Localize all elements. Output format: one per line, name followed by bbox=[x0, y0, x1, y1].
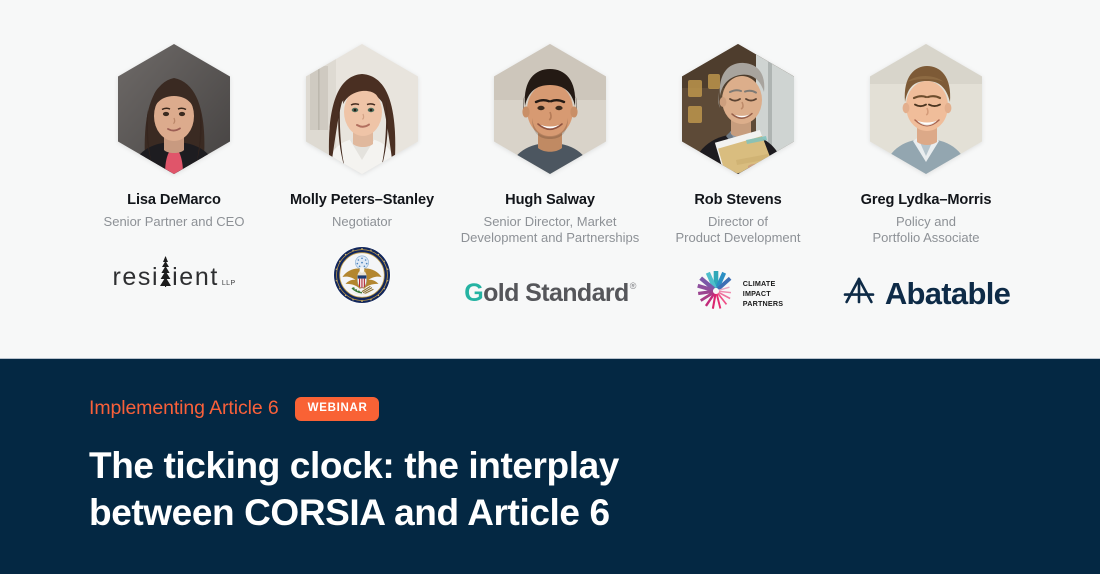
gold-standard-logo-g: G bbox=[464, 279, 483, 308]
banner-content: Implementing Article 6 WEBINAR The ticki… bbox=[0, 359, 1100, 536]
gold-standard-logo: Gold Standard® bbox=[464, 279, 636, 308]
speaker-photo-hugh-salway bbox=[494, 44, 606, 174]
speaker-role-line-2: Portfolio Associate bbox=[873, 230, 980, 247]
climate-impact-partners-wordmark: Climate Impact Partners bbox=[743, 279, 783, 309]
speaker-role: Negotiator bbox=[332, 214, 392, 231]
webinar-banner: Implementing Article 6 WEBINAR The ticki… bbox=[0, 358, 1100, 574]
status-badge: WEBINAR bbox=[295, 397, 380, 421]
webinar-promo-card: Lisa DeMarco Senior Partner and CEO resi… bbox=[0, 0, 1100, 574]
speaker-role: Senior Director, Market Development and … bbox=[461, 214, 640, 247]
speaker-card-molly-peters-stanley: Molly Peters–Stanley Negotiator bbox=[268, 44, 456, 308]
radial-burst-icon bbox=[693, 268, 739, 319]
abatable-wordmark: Abatable bbox=[885, 276, 1010, 312]
cip-line-1: Climate bbox=[743, 279, 783, 289]
speaker-name: Molly Peters–Stanley bbox=[290, 192, 434, 210]
speaker-role-line-1: Director of bbox=[675, 214, 800, 231]
abatable-logo: Abatable bbox=[842, 276, 1010, 312]
resilient-logo-text-part1: resi bbox=[112, 263, 159, 292]
speaker-organization-logo: Gold Standard® bbox=[464, 263, 636, 325]
us-department-of-state-seal bbox=[333, 246, 391, 309]
speaker-organization-logo: Climate Impact Partners bbox=[693, 263, 783, 325]
speaker-photo-lisa-demarco bbox=[118, 44, 230, 174]
abatable-mark-icon bbox=[842, 276, 876, 311]
speaker-card-hugh-salway: Hugh Salway Senior Director, Market Deve… bbox=[456, 44, 644, 325]
speaker-card-rob-stevens: Rob Stevens Director of Product Developm… bbox=[644, 44, 832, 325]
speaker-role: Director of Product Development bbox=[675, 214, 800, 247]
speaker-role-line-1: Senior Director, Market bbox=[461, 214, 640, 231]
speaker-name: Hugh Salway bbox=[505, 192, 595, 210]
speaker-photo-rob-stevens bbox=[682, 44, 794, 174]
resilient-logo-text-part2: ient bbox=[172, 263, 219, 292]
cip-line-3: Partners bbox=[743, 299, 783, 309]
banner-eyebrow-row: Implementing Article 6 WEBINAR bbox=[89, 397, 1100, 421]
speaker-organization-logo bbox=[333, 246, 391, 308]
speaker-list: Lisa DeMarco Senior Partner and CEO resi… bbox=[0, 0, 1100, 358]
gold-standard-logo-rest: old Standard bbox=[483, 279, 629, 308]
speaker-card-lisa-demarco: Lisa DeMarco Senior Partner and CEO resi… bbox=[80, 44, 268, 308]
speaker-name: Greg Lydka–Morris bbox=[861, 192, 992, 210]
speaker-role-line-1: Policy and bbox=[873, 214, 980, 231]
speaker-role-line-2: Product Development bbox=[675, 230, 800, 247]
speaker-photo-molly-peters-stanley bbox=[306, 44, 418, 174]
speaker-name: Rob Stevens bbox=[694, 192, 781, 210]
registered-mark-icon: ® bbox=[630, 281, 636, 291]
page-title-line-2: between CORSIA and Article 6 bbox=[89, 489, 709, 536]
speaker-role: Policy and Portfolio Associate bbox=[873, 214, 980, 247]
cip-line-2: Impact bbox=[743, 289, 783, 299]
speaker-role-line-2: Development and Partnerships bbox=[461, 230, 640, 247]
speaker-role: Senior Partner and CEO bbox=[104, 214, 245, 231]
resilient-logo: resiientLLP bbox=[112, 263, 235, 292]
speaker-photo-greg-lydka-morris bbox=[870, 44, 982, 174]
resilient-logo-suffix: LLP bbox=[222, 280, 236, 287]
climate-impact-partners-logo: Climate Impact Partners bbox=[693, 268, 783, 319]
speaker-card-greg-lydka-morris: Greg Lydka–Morris Policy and Portfolio A… bbox=[832, 44, 1020, 325]
speaker-organization-logo: Abatable bbox=[842, 263, 1010, 325]
page-title-line-1: The ticking clock: the interplay bbox=[89, 442, 709, 489]
speaker-name: Lisa DeMarco bbox=[127, 192, 221, 210]
series-title: Implementing Article 6 bbox=[89, 397, 279, 420]
speaker-organization-logo: resiientLLP bbox=[112, 246, 235, 308]
page-title: The ticking clock: the interplay between… bbox=[89, 442, 709, 537]
